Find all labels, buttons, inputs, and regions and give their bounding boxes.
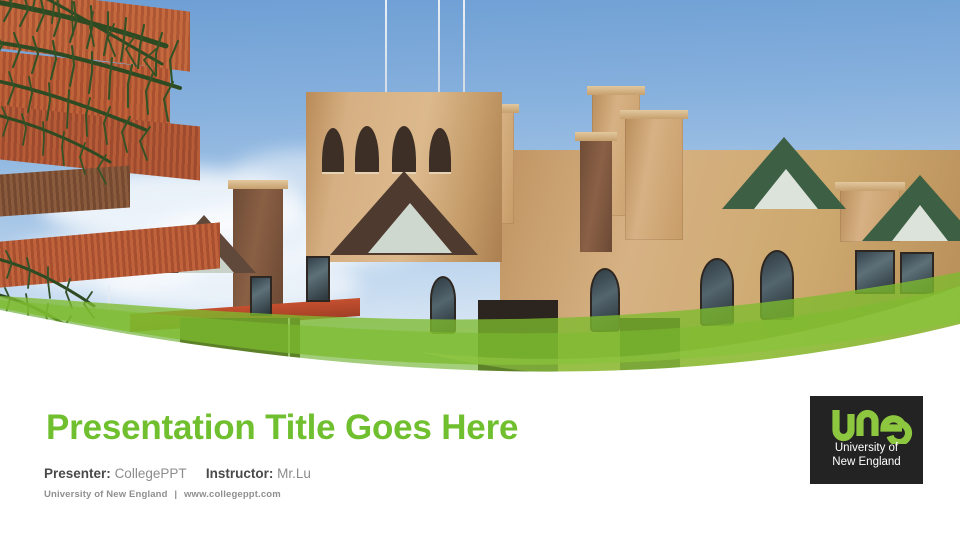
window [900, 252, 934, 294]
une-logo-mark-icon [810, 404, 923, 444]
pine-branch [0, 0, 290, 210]
window [250, 276, 272, 316]
chimney [625, 110, 683, 240]
presenter-label: Presenter: [44, 466, 111, 481]
veranda-recess [620, 318, 680, 372]
pine-branch-lower [0, 232, 114, 352]
veranda-recess [478, 300, 558, 372]
presenter-value: CollegePPT [115, 466, 187, 481]
flagpole [438, 0, 440, 96]
arched-window [700, 258, 734, 326]
logo-name-line-2: New England [810, 456, 923, 470]
campus-building-photo [0, 0, 960, 372]
flagpole [288, 318, 290, 358]
arched-window [760, 250, 794, 320]
chimney [580, 132, 612, 252]
arched-window [430, 276, 456, 334]
footer-website: www.collegeppt.com [184, 489, 281, 500]
logo-name-line-1: University of [810, 442, 923, 456]
footer-line: University of New England | www.collegep… [44, 489, 281, 500]
window [855, 250, 895, 294]
une-logo-wordmark: University of New England [810, 442, 923, 469]
footer-organization: University of New England [44, 489, 168, 500]
byline: Presenter: CollegePPT Instructor: Mr.Lu [44, 466, 311, 481]
gable-infill [754, 166, 818, 209]
instructor-value: Mr.Lu [277, 466, 311, 481]
gable-infill [368, 200, 452, 253]
instructor-label: Instructor: [206, 466, 274, 481]
flagpole [463, 0, 465, 100]
hero-banner [0, 0, 960, 372]
une-logo: University of New England [810, 396, 923, 484]
arched-window [590, 268, 620, 332]
gable-infill [892, 202, 948, 241]
title-slide: Presentation Title Goes Here Presenter: … [0, 0, 960, 540]
veranda-recess [180, 318, 300, 372]
footer-separator: | [170, 489, 181, 500]
page-title: Presentation Title Goes Here [46, 408, 518, 448]
window [306, 256, 330, 302]
